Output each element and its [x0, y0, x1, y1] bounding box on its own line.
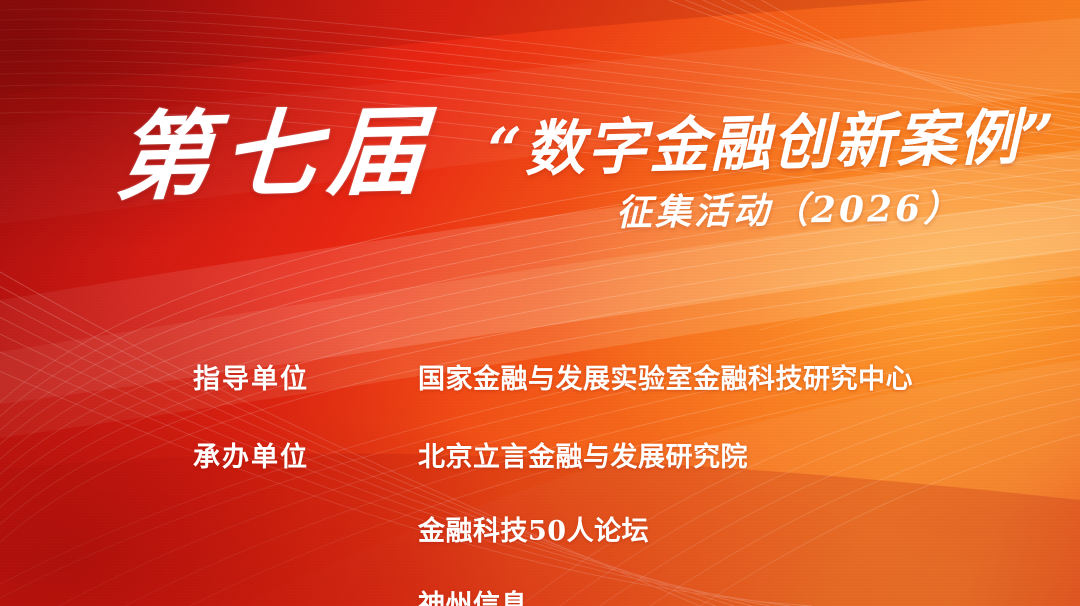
credit-label-organizer: 承办单位 [193, 435, 309, 474]
credit-value-organizer-2: 金融科技50人论坛 [418, 509, 649, 548]
poster-canvas: 第七届 “数字金融创新案例” 征集活动（2026） 指导单位 国家金融与发展实验… [0, 0, 1080, 606]
credit-row-guidance: 指导单位 国家金融与发展实验室金融科技研究中心 [0, 357, 1080, 387]
credits-block: 指导单位 国家金融与发展实验室金融科技研究中心 承办单位 北京立言金融与发展研究… [0, 357, 1080, 477]
credit-label-guidance: 指导单位 [193, 357, 309, 396]
credit-value-organizer-1: 北京立言金融与发展研究院 [418, 435, 748, 474]
credit-row-organizer-3: 神州信息 [0, 583, 1080, 606]
credit-row-organizer: 承办单位 北京立言金融与发展研究院 [0, 435, 1080, 465]
headline-group: 第七届 “数字金融创新案例” 征集活动（2026） [0, 104, 1080, 254]
edition-title: 第七届 [112, 97, 438, 211]
credit-value-organizer-3: 神州信息 [418, 583, 528, 606]
credit-value-guidance-1: 国家金融与发展实验室金融科技研究中心 [418, 357, 913, 396]
credit-row-organizer-2: 金融科技50人论坛 [0, 509, 1080, 539]
subtitle-campaign-year: 征集活动（2026） [616, 189, 963, 233]
poster-content: 第七届 “数字金融创新案例” 征集活动（2026） 指导单位 国家金融与发展实验… [0, 0, 1080, 606]
theme-title: “数字金融创新案例” [487, 104, 1057, 184]
